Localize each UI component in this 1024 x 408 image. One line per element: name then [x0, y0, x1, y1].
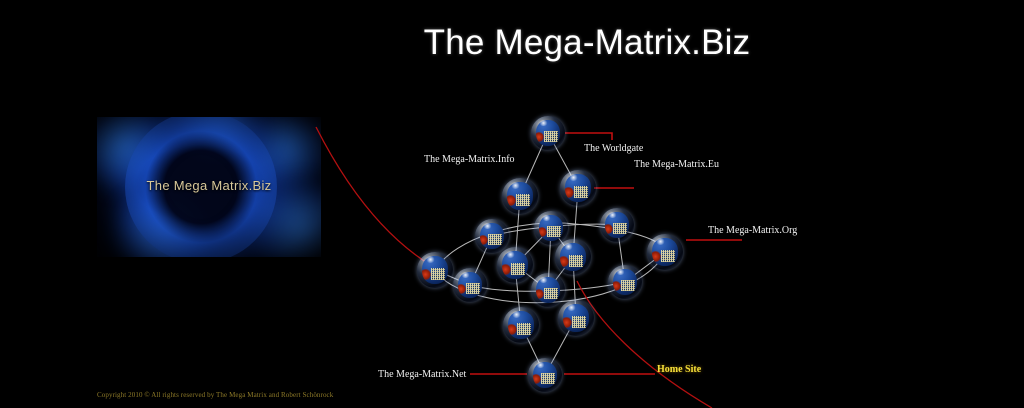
node-specular: [511, 182, 520, 188]
network-node[interactable]: [502, 178, 538, 214]
label-mega-matrix-org[interactable]: The Mega-Matrix.Org: [708, 225, 797, 237]
network-node[interactable]: [497, 247, 533, 283]
network-node[interactable]: [558, 300, 594, 336]
network-node[interactable]: [600, 208, 634, 242]
label-worldgate[interactable]: The Worldgate: [584, 143, 643, 155]
label-home-site[interactable]: Home Site: [657, 364, 701, 376]
label-mega-matrix-eu[interactable]: The Mega-Matrix.Eu: [634, 159, 719, 171]
network-diagram: The Mega-Matrix.Info The Worldgate The M…: [0, 0, 1024, 408]
node-specular: [506, 251, 515, 257]
network-node[interactable]: [528, 358, 562, 392]
network-node[interactable]: [503, 307, 539, 343]
copyright-notice: Copyright 2010 © All rights reserved by …: [97, 391, 333, 400]
node-specular: [567, 304, 576, 310]
curve-thumbnail-to-network: [316, 127, 432, 266]
network-node[interactable]: [560, 170, 596, 206]
slide-canvas: The Mega-Matrix.Biz The Mega Matrix.Biz: [0, 0, 1024, 408]
node-specular: [426, 256, 435, 262]
node-specular: [656, 238, 665, 244]
node-specular: [569, 174, 578, 180]
network-node[interactable]: [534, 211, 568, 245]
network-node[interactable]: [531, 273, 565, 307]
label-mega-matrix-net[interactable]: The Mega-Matrix.Net: [378, 369, 466, 381]
network-node[interactable]: [531, 116, 565, 150]
network-node[interactable]: [453, 268, 487, 302]
network-node[interactable]: [417, 252, 453, 288]
node-specular: [564, 243, 573, 249]
node-specular: [512, 311, 521, 317]
network-node[interactable]: [475, 219, 509, 253]
label-mega-matrix-info[interactable]: The Mega-Matrix.Info: [424, 154, 515, 166]
network-node[interactable]: [647, 234, 683, 270]
network-node[interactable]: [608, 265, 642, 299]
network-node[interactable]: [555, 239, 591, 275]
pointer-worldgate: [565, 133, 612, 140]
curve-network-to-homesite: [577, 281, 712, 408]
